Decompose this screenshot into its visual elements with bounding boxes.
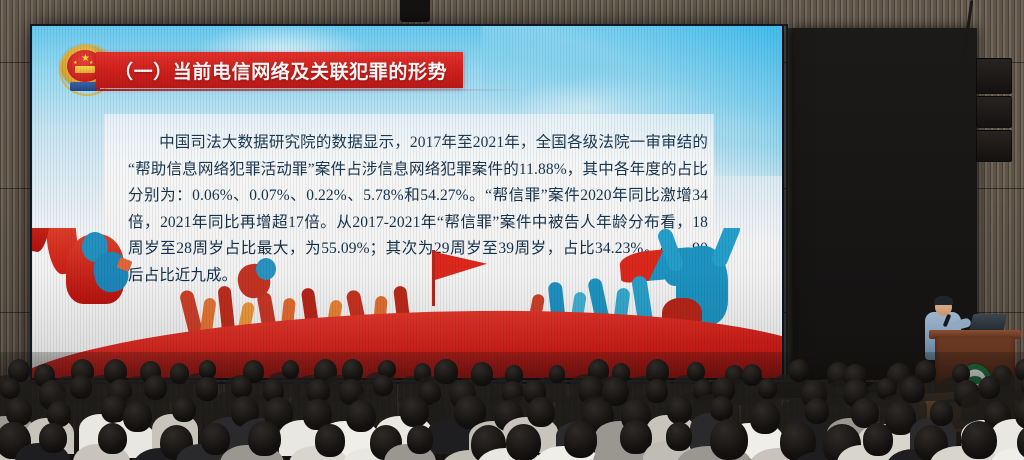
- audience-member-head: [282, 360, 299, 378]
- audience-member-head: [527, 397, 555, 428]
- slide-title-banner: （一）当前电信网络及关联犯罪的形势: [96, 52, 463, 88]
- audience-member-head: [407, 425, 434, 454]
- audience-member-head: [98, 423, 127, 454]
- audience-member-head: [549, 365, 566, 383]
- audience-member-head: [789, 359, 810, 381]
- audience-area: [0, 352, 1024, 460]
- audience-member-head: [930, 400, 954, 426]
- audience-member-head: [144, 375, 167, 400]
- wall-speaker-icon: [976, 130, 1012, 162]
- wall-speaker-icon: [976, 58, 1012, 94]
- audience-member-head: [961, 421, 997, 460]
- audience-member-head: [39, 423, 67, 453]
- lecture-hall-photo: ★ ★ ★ （一）当前电信网络及关联犯罪的形势 中国司法大数据研究院的数据显示，…: [0, 0, 1024, 460]
- audience-member-head: [248, 421, 280, 456]
- audience-member-head: [564, 421, 598, 457]
- audience-member-head: [863, 423, 893, 456]
- audience-member-head: [667, 396, 692, 423]
- audience-member-head: [346, 400, 376, 432]
- audience-member-head: [315, 424, 345, 457]
- audience-member-head: [710, 396, 733, 421]
- audience-member-head: [666, 422, 693, 451]
- audience-member-head: [373, 375, 393, 396]
- wall-speaker-icon: [976, 96, 1012, 128]
- audience-member-head: [400, 396, 429, 427]
- audience-member-head: [434, 359, 457, 384]
- speaker-hair: [934, 296, 953, 305]
- slide-title: （一）当前电信网络及关联犯罪的形势: [114, 57, 447, 84]
- audience-member-head: [805, 398, 829, 424]
- audience-member-head: [646, 379, 669, 403]
- audience-member-head: [506, 424, 540, 460]
- led-presentation-screen: ★ ★ ★ （一）当前电信网络及关联犯罪的形势 中国司法大数据研究院的数据显示，…: [32, 26, 782, 378]
- red-flag-icon: [432, 250, 492, 306]
- audience-member-head: [123, 401, 152, 433]
- title-underline: [96, 89, 526, 91]
- audience-member-head: [471, 362, 493, 386]
- audience-member-head: [199, 360, 216, 378]
- audience-member-head: [0, 378, 19, 399]
- audience-member-head: [758, 378, 777, 399]
- audience-member-head: [70, 375, 92, 399]
- audience-member-head: [172, 397, 196, 423]
- audience-member-head: [750, 401, 780, 433]
- ceiling-fixture: [400, 0, 430, 22]
- audience-member-head: [979, 376, 1000, 399]
- audience-member-head: [900, 377, 924, 403]
- audience-member-head: [710, 419, 748, 460]
- audience-member-head: [231, 376, 252, 398]
